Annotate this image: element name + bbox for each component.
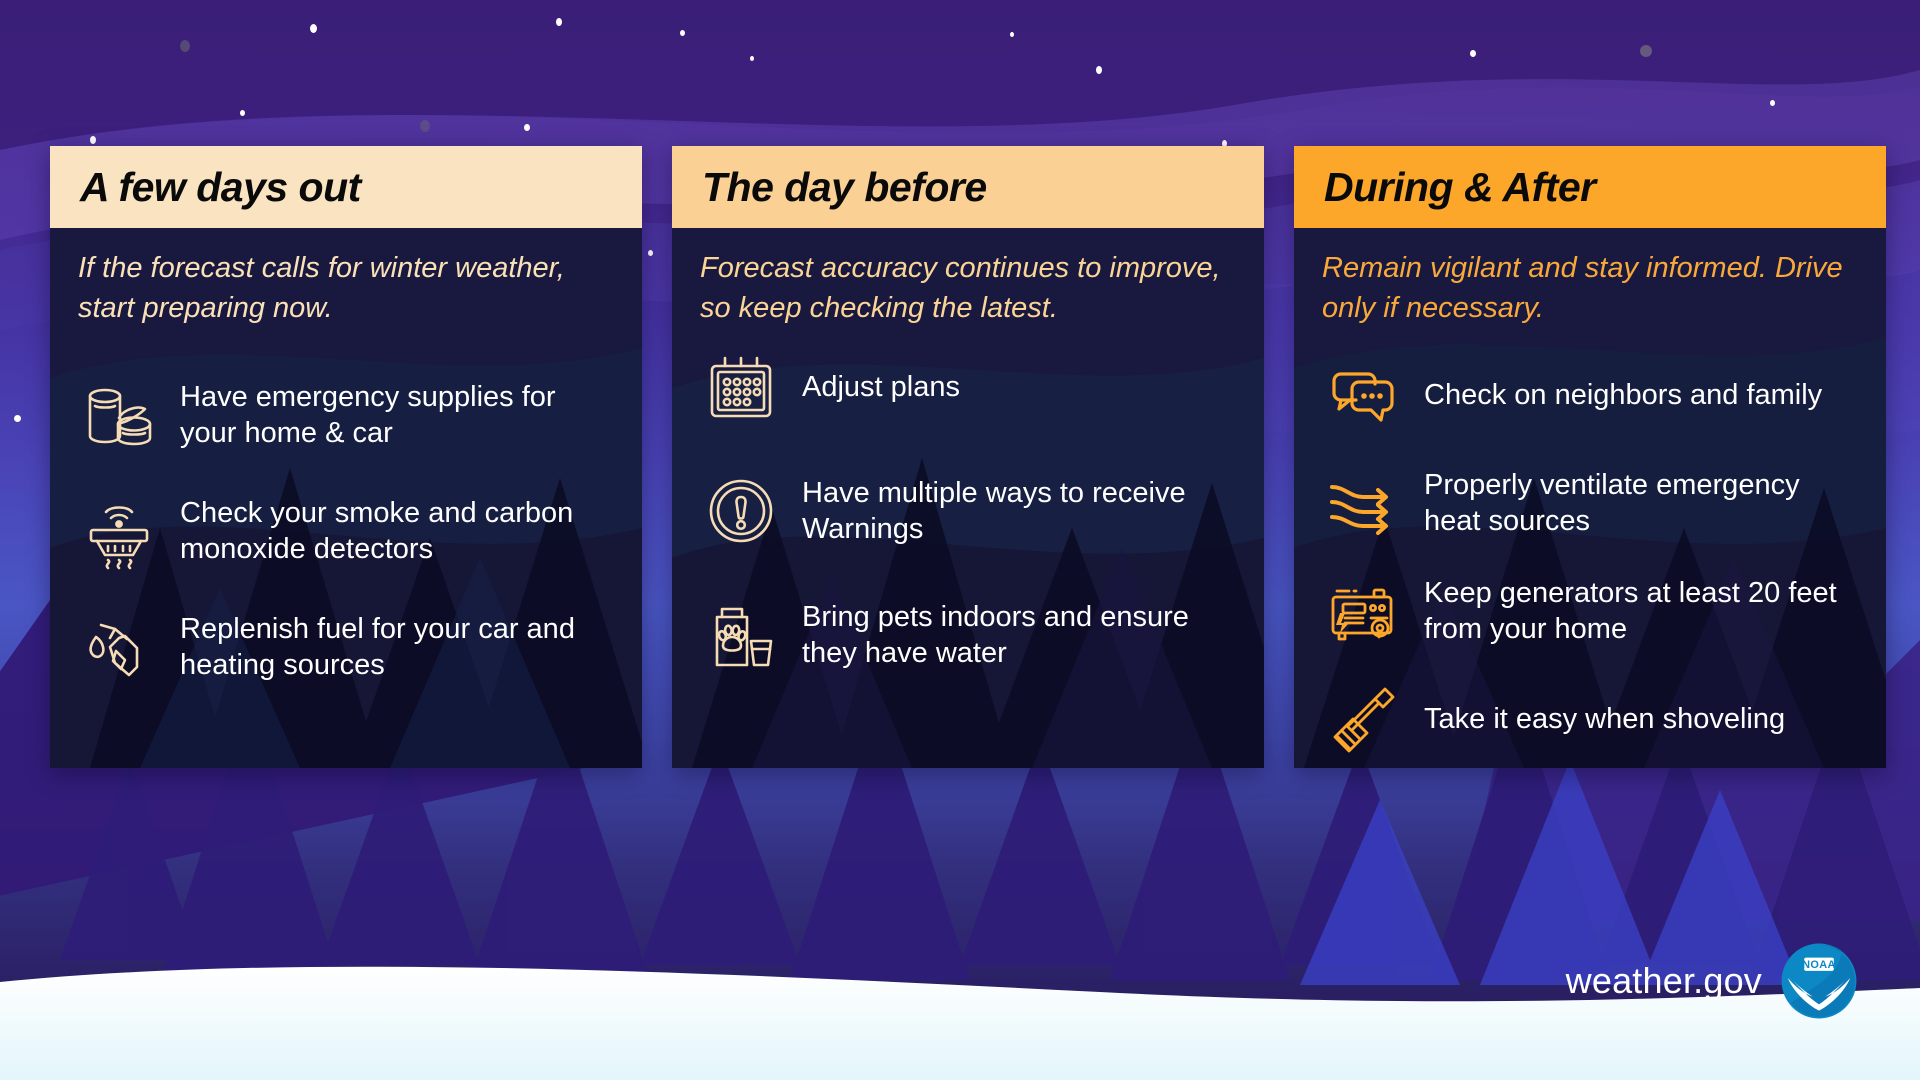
list-item-text: Replenish fuel for your car and heating … — [180, 611, 616, 684]
airflow-arrows-icon — [1320, 460, 1406, 546]
card-heading-1: A few days out — [80, 164, 361, 211]
noaa-logo-text: NOAA — [1802, 959, 1836, 971]
calendar-icon — [698, 344, 784, 430]
list-item: Have emergency supplies for your home & … — [76, 372, 616, 458]
snow-shovel-icon — [1320, 676, 1406, 762]
list-item: Properly ventilate emergency heat source… — [1320, 460, 1860, 546]
list-item: Keep generators at least 20 feet from yo… — [1320, 568, 1860, 654]
fuel-nozzle-icon — [76, 604, 162, 690]
pet-food-icon — [698, 592, 784, 678]
footer-brand: weather.gov NOAA — [1566, 942, 1858, 1020]
list-item: Check your smoke and carbon monoxide det… — [76, 488, 616, 574]
card-body-3: Remain vigilant and stay informed. Drive… — [1294, 228, 1886, 768]
list-item-text: Adjust plans — [802, 369, 960, 406]
card-intro-1: If the forecast calls for winter weather… — [50, 228, 642, 328]
weather-gov-label[interactable]: weather.gov — [1566, 960, 1762, 1002]
list-item: Adjust plans — [698, 344, 1238, 430]
card-body-2: Forecast accuracy continues to improve, … — [672, 228, 1264, 768]
page-title: Winter Storm Planning Timeline — [46, 16, 1313, 115]
card-item-list-2: Adjust plans Have multiple ways to recei… — [672, 344, 1264, 678]
list-item-text: Bring pets indoors and ensure they have … — [802, 599, 1238, 672]
timeline-card-a-few-days-out: A few days out If the forecast calls for… — [50, 146, 642, 768]
list-item: Have multiple ways to receive Warnings — [698, 468, 1238, 554]
list-item-text: Keep generators at least 20 feet from yo… — [1424, 575, 1860, 648]
list-item-text: Have multiple ways to receive Warnings — [802, 475, 1238, 548]
speech-bubbles-icon — [1320, 352, 1406, 438]
noaa-logo: NOAA — [1780, 942, 1858, 1020]
timeline-card-during-and-after: During & After Remain vigilant and stay … — [1294, 146, 1886, 768]
alert-exclamation-icon — [698, 468, 784, 554]
card-intro-3: Remain vigilant and stay informed. Drive… — [1294, 228, 1886, 328]
card-item-list-1: Have emergency supplies for your home & … — [50, 372, 642, 690]
list-item-text: Take it easy when shoveling — [1424, 701, 1785, 738]
card-item-list-3: Check on neighbors and family Pro — [1294, 352, 1886, 762]
card-header-3: During & After — [1294, 146, 1886, 228]
card-intro-2: Forecast accuracy continues to improve, … — [672, 228, 1264, 328]
list-item: Check on neighbors and family — [1320, 352, 1860, 438]
list-item: Take it easy when shoveling — [1320, 676, 1860, 762]
infographic-canvas: A few days out If the forecast calls for… — [0, 0, 1920, 1080]
card-body-1: If the forecast calls for winter weather… — [50, 228, 642, 768]
list-item-text: Check on neighbors and family — [1424, 377, 1822, 414]
smoke-detector-icon — [76, 488, 162, 574]
card-header-2: The day before — [672, 146, 1264, 228]
card-heading-3: During & After — [1324, 164, 1596, 211]
generator-icon — [1320, 568, 1406, 654]
card-heading-2: The day before — [702, 164, 987, 211]
list-item-text: Have emergency supplies for your home & … — [180, 379, 616, 452]
list-item: Bring pets indoors and ensure they have … — [698, 592, 1238, 678]
list-item-text: Properly ventilate emergency heat source… — [1424, 467, 1860, 540]
timeline-card-the-day-before: The day before Forecast accuracy continu… — [672, 146, 1264, 768]
list-item-text: Check your smoke and carbon monoxide det… — [180, 495, 616, 568]
supply-cans-icon — [76, 372, 162, 458]
list-item: Replenish fuel for your car and heating … — [76, 604, 616, 690]
card-header-1: A few days out — [50, 146, 642, 228]
